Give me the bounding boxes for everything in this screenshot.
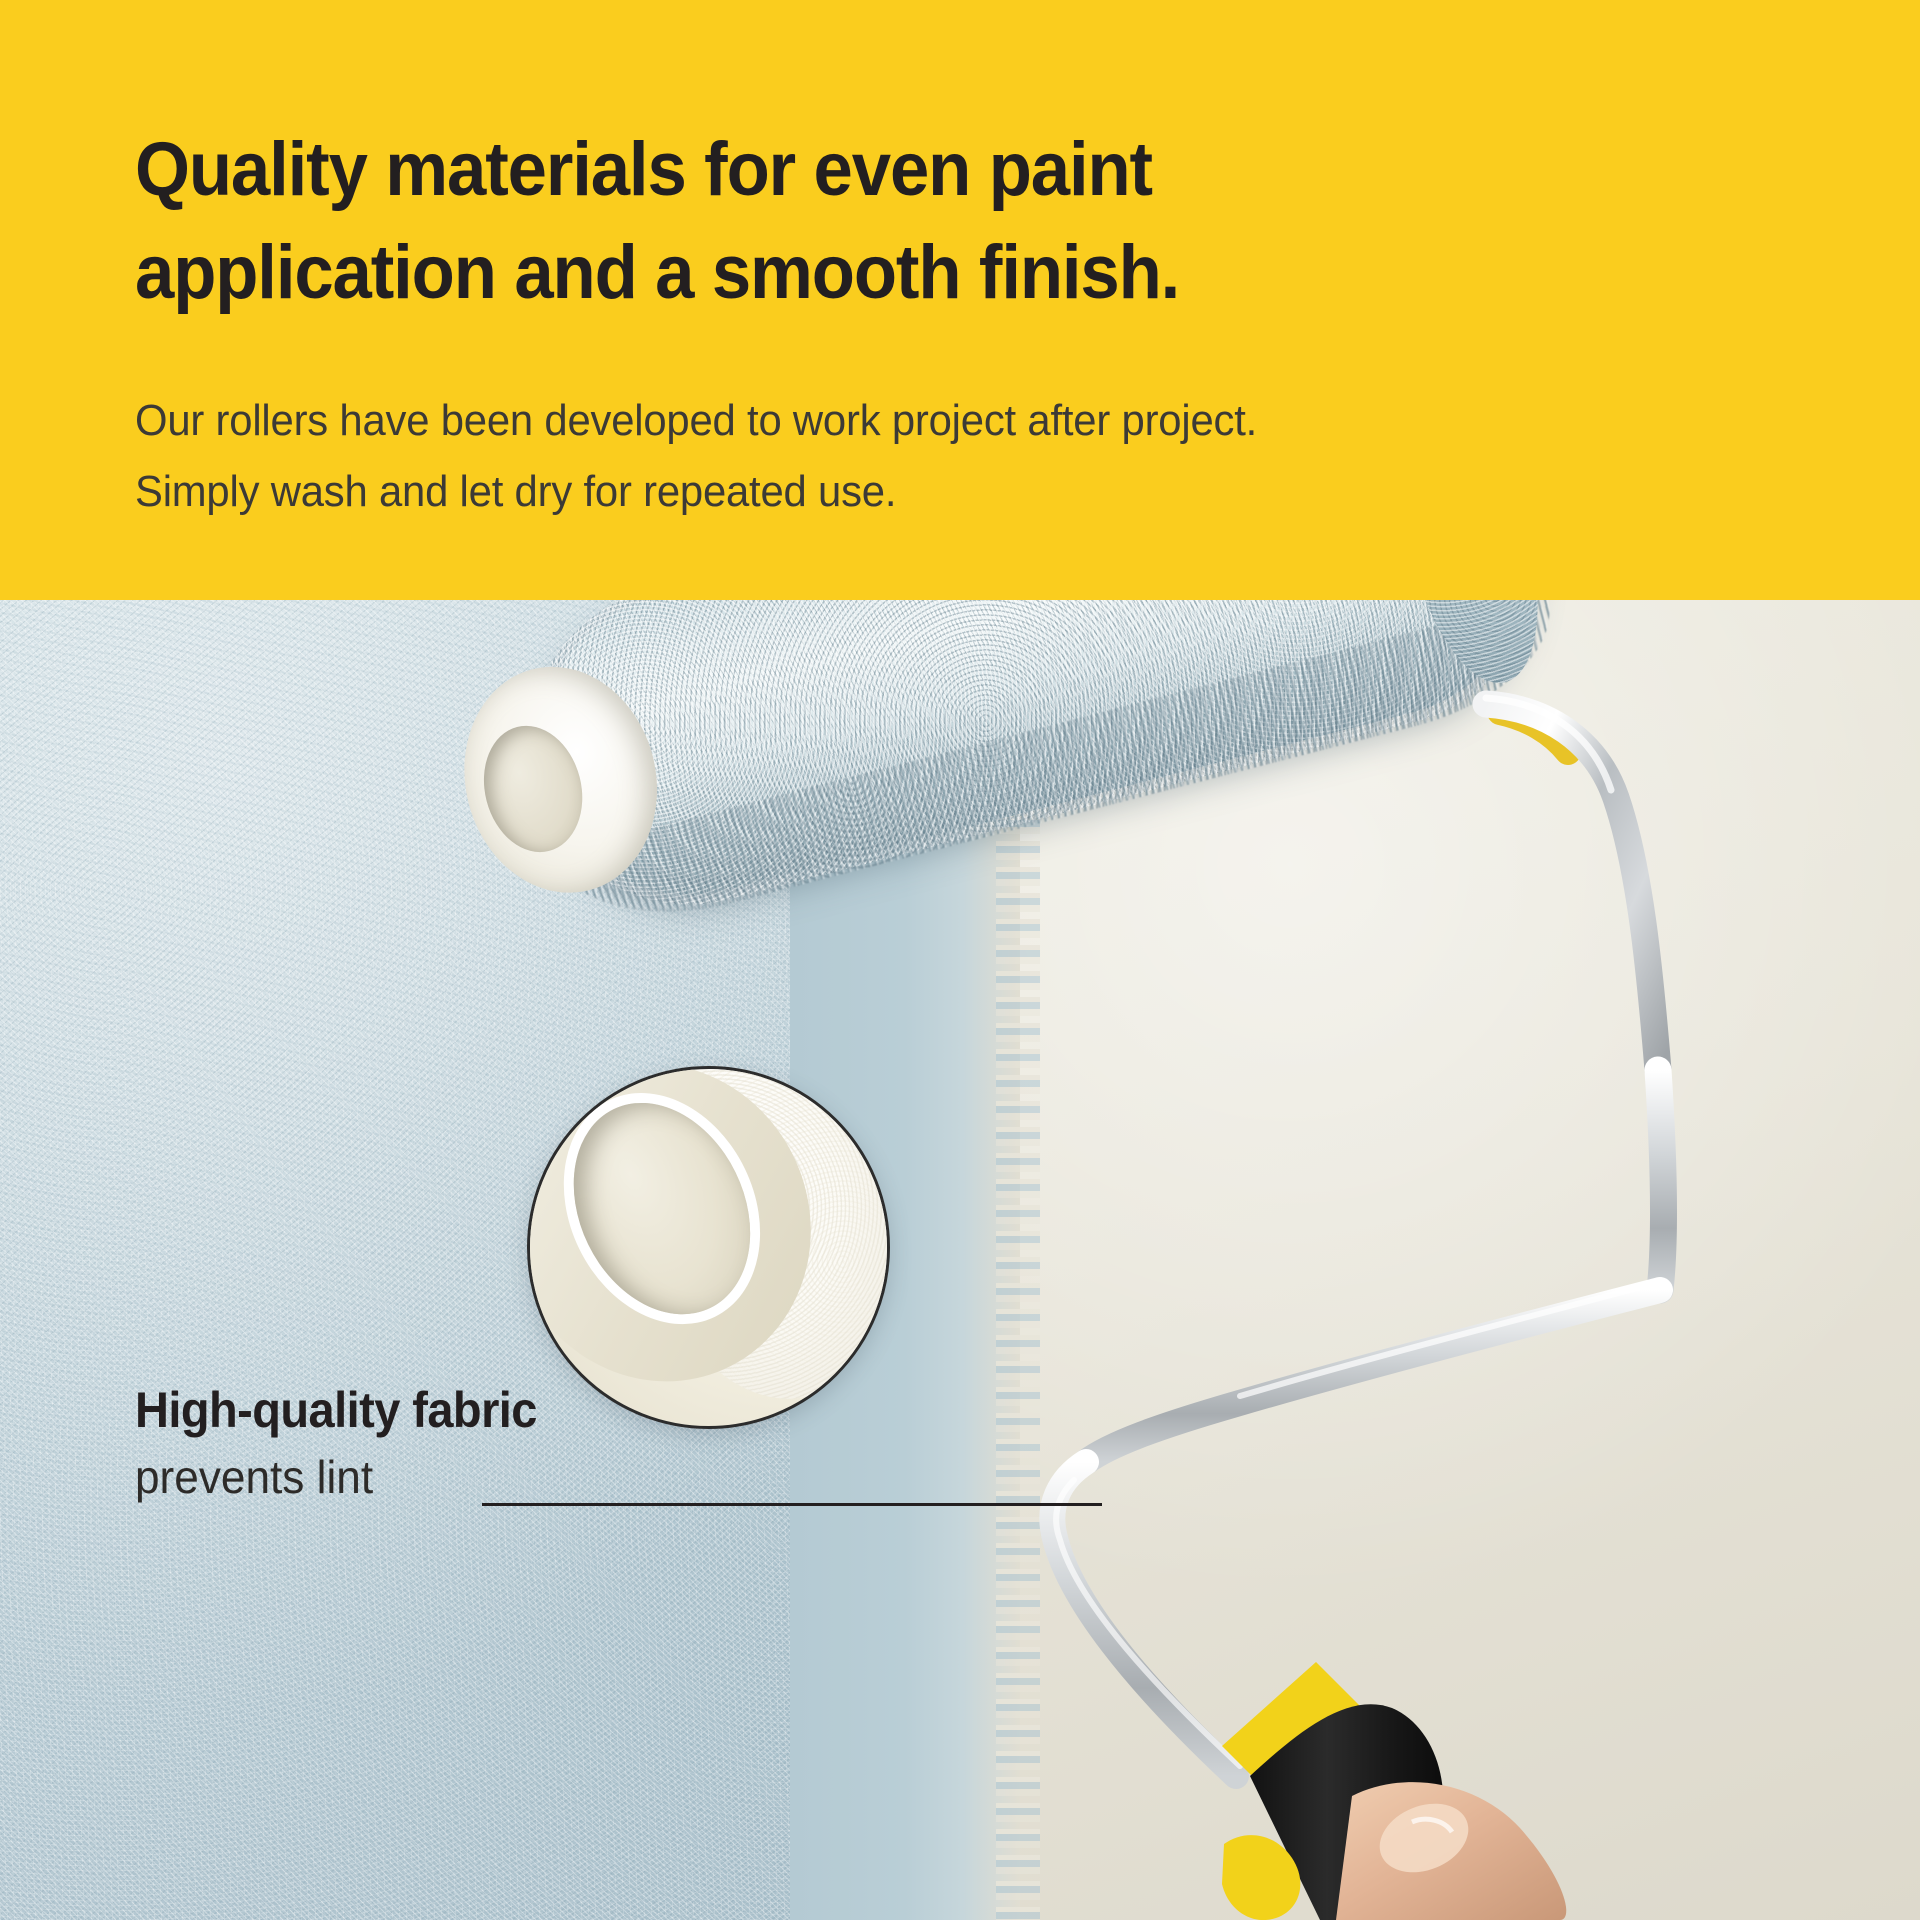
page-subtitle: Our rollers have been developed to work … bbox=[135, 385, 1750, 527]
magnifier-content bbox=[530, 1069, 887, 1426]
headline-line-1: Quality materials for even paint bbox=[135, 118, 1530, 221]
subtitle-line-2: Simply wash and let dry for repeated use… bbox=[135, 456, 1750, 527]
product-photo: High-quality fabric prevents lint Polypr… bbox=[0, 600, 1920, 1920]
product-feature-infographic: Quality materials for even paint applica… bbox=[0, 0, 1920, 1920]
header-banner: Quality materials for even paint applica… bbox=[0, 0, 1920, 600]
leader-line-fabric bbox=[482, 1503, 1102, 1506]
headline-line-2: application and a smooth finish. bbox=[135, 221, 1530, 324]
page-title: Quality materials for even paint applica… bbox=[135, 118, 1530, 324]
callout-fabric-title: High-quality fabric bbox=[135, 1380, 537, 1440]
magnifier-circle bbox=[527, 1066, 890, 1429]
callout-high-quality-fabric: High-quality fabric prevents lint bbox=[135, 1380, 563, 1508]
callout-fabric-subtitle: prevents lint bbox=[135, 1446, 545, 1508]
roller-core-opening bbox=[471, 715, 596, 863]
subtitle-line-1: Our rollers have been developed to work … bbox=[135, 385, 1750, 456]
